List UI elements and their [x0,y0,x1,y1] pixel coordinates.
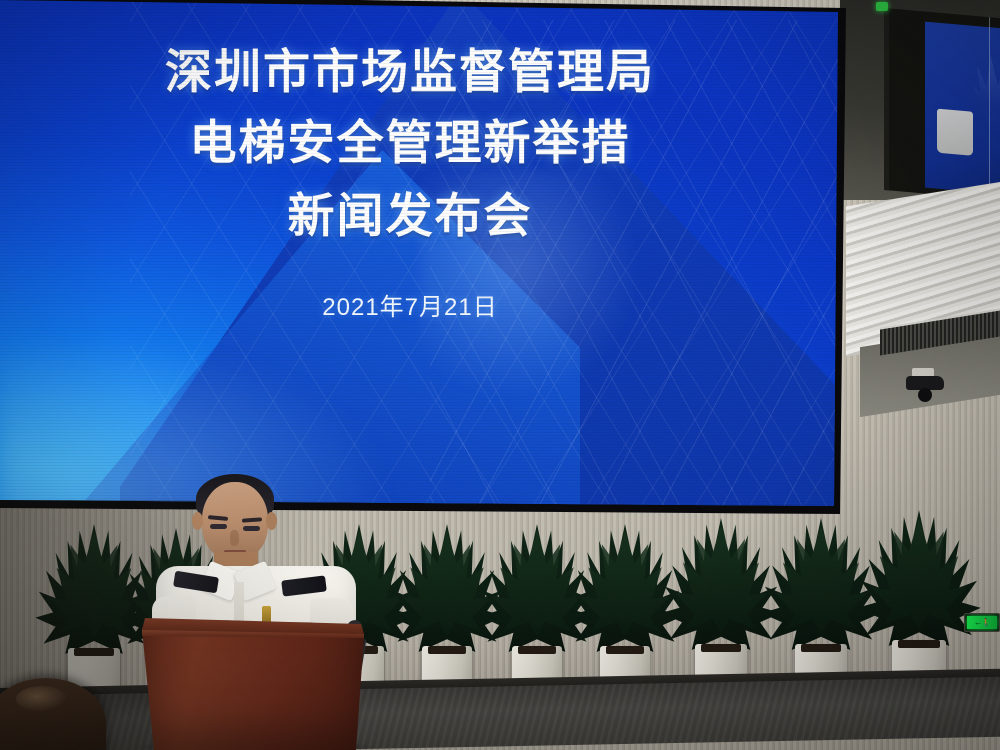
speaker-nose [230,530,239,546]
plant-soil [518,646,556,654]
speaker-podium [142,618,364,750]
emergency-exit-sign: ←🚶 [964,613,1000,632]
speaker-ear-right [266,512,277,530]
plant-soil [428,646,466,654]
speaker-ear-left [192,512,203,530]
glass-window [884,8,1000,201]
window-mullion [989,17,990,199]
potted-plant [856,504,982,686]
plant-soil [801,644,841,652]
speaker-eye-right [243,526,260,531]
plant-soil [898,640,939,648]
podium-front-face [142,628,364,750]
camera-lens-icon [918,388,932,402]
plant-soil [701,644,741,652]
audience-hair-highlight [16,686,68,712]
slide-glare-upper [420,170,650,410]
speaker-eye-left [210,524,227,529]
plant-soil [74,648,114,656]
press-conference-photo: 深圳市市场监督管理局 电梯安全管理新举措 新闻发布会 2021年7月21日 ←🚶 [0,0,1000,750]
window-reflection-pot [937,109,973,156]
exit-running-man-icon: ←🚶 [967,616,997,629]
projection-screen: 深圳市市场监督管理局 电梯安全管理新举措 新闻发布会 2021年7月21日 [0,0,838,508]
green-indicator-led-icon [876,2,888,11]
plant-soil [606,646,644,654]
